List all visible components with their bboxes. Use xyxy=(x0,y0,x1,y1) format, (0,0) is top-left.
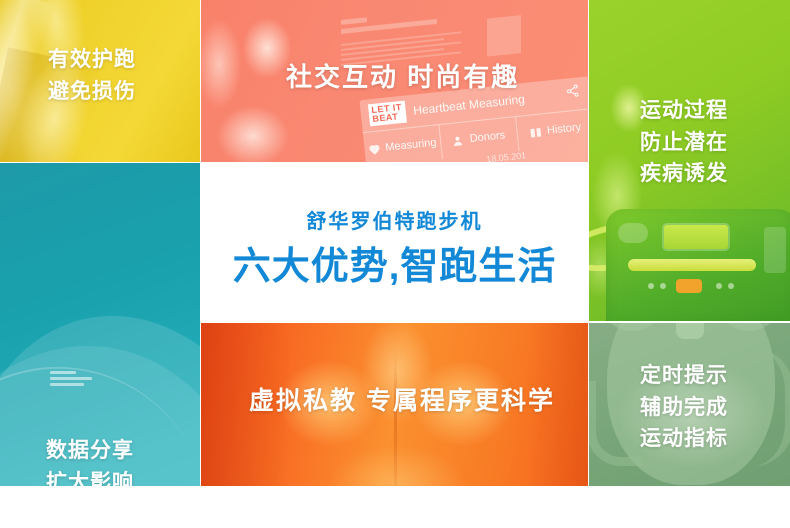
app-tab-donors-label: Donors xyxy=(469,129,506,145)
console-dot xyxy=(648,283,654,289)
panel-left-middle-text: 数据分享 扩大影响 xyxy=(46,435,134,486)
line-2 xyxy=(50,377,92,380)
share-icon xyxy=(565,83,580,98)
app-brand-logo: LET IT BEAT xyxy=(368,101,407,127)
panel-bottom-center-text: 虚拟私教 专属程序更科学 xyxy=(249,383,555,421)
app-tab-history-label: History xyxy=(546,121,581,137)
people-icon xyxy=(452,134,465,146)
footer-whitespace xyxy=(0,486,790,528)
panel-top-center: LET IT BEAT Heartbeat Measuring xyxy=(201,0,588,162)
data-lines-icon xyxy=(50,371,110,391)
doc-block xyxy=(487,15,521,57)
console-dot xyxy=(660,283,666,289)
panel-top-left: 有效护跑 避免损伤 xyxy=(0,0,200,162)
panel-bottom-center: 虚拟私教 专属程序更科学 xyxy=(201,323,588,486)
console-start-button xyxy=(676,279,702,293)
console-screen xyxy=(664,225,728,249)
console-dot xyxy=(716,283,722,289)
line-1 xyxy=(50,371,76,374)
console-knob xyxy=(618,223,648,243)
panel-bottom-right-text: 定时提示 辅助完成 运动指标 xyxy=(640,360,728,455)
app-tab-measuring-label: Measuring xyxy=(385,137,437,154)
panel-center-headline: 舒华罗伯特跑步机 六大优势,智跑生活 xyxy=(201,163,588,322)
panel-top-center-text: 社交互动 时尚有趣 xyxy=(286,58,519,97)
promo-board: 有效护跑 避免损伤 数据分享 扩大影响 xyxy=(0,0,790,528)
heart-icon xyxy=(368,143,381,155)
console-handle-bar xyxy=(628,259,756,271)
console-dot xyxy=(728,283,734,289)
treadmill-console xyxy=(606,209,790,321)
brand-line-2: BEAT xyxy=(372,112,403,124)
panel-top-right-text: 运动过程 防止潜在 疾病诱发 xyxy=(640,95,728,190)
blob-nub xyxy=(676,323,704,339)
center-subtitle: 舒华罗伯特跑步机 xyxy=(201,205,588,234)
center-headline: 六大优势,智跑生活 xyxy=(201,235,588,290)
panel-top-left-text: 有效护跑 避免损伤 xyxy=(48,44,136,107)
panel-left-middle: 数据分享 扩大影响 xyxy=(0,163,200,486)
book-icon xyxy=(530,126,543,138)
console-side-panel xyxy=(764,227,786,273)
line-3 xyxy=(50,383,84,386)
